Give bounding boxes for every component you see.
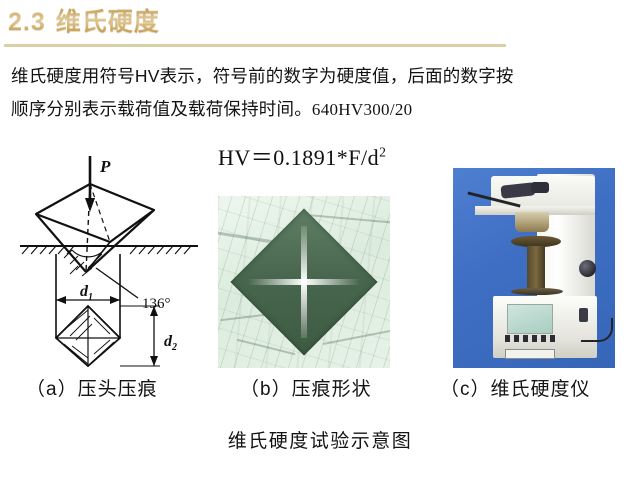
title-label: 维氏硬度 bbox=[56, 8, 160, 36]
body-line-1: 维氏硬度用符号HV表示，符号前的数字为硬度值，后面的数字按 bbox=[11, 60, 631, 93]
figure-a-caption: （a）压头压痕 bbox=[26, 377, 158, 403]
figure-a-indenter-diagram: P 136° d1 d2 bbox=[14, 150, 204, 372]
tester-elevating-post bbox=[527, 246, 545, 292]
label-d2: d2 bbox=[164, 333, 177, 353]
label-angle-136: 136° bbox=[142, 296, 171, 312]
title-number: 2.3 bbox=[8, 8, 46, 36]
figure-c-hardness-tester-photo bbox=[453, 168, 615, 368]
tester-turret bbox=[515, 212, 549, 232]
pyramid-hidden-edge bbox=[90, 184, 110, 242]
load-arrow-head bbox=[85, 198, 95, 212]
tester-keypad bbox=[505, 335, 555, 342]
figure-title: 维氏硬度试验示意图 bbox=[0, 428, 640, 455]
label-load-P: P bbox=[99, 157, 111, 176]
figure-b-caption: （b）压痕形状 bbox=[240, 377, 372, 403]
tester-display-screen bbox=[507, 304, 553, 334]
body-line-2: 顺序分别表示载荷值及载荷保持时间。640HV300/20 bbox=[11, 93, 631, 126]
tester-eyepiece-secondary bbox=[531, 182, 549, 193]
indent-diagonal-horizontal bbox=[248, 279, 360, 285]
body-paragraph: 维氏硬度用符号HV表示，符号前的数字为硬度值，后面的数字按 顺序分别表示载荷值及… bbox=[11, 60, 631, 126]
d2-dimension bbox=[120, 306, 160, 366]
figure-b-indent-micrograph bbox=[218, 196, 390, 368]
tester-printer-slot bbox=[505, 349, 555, 359]
pyramid-axis-dashed bbox=[86, 184, 90, 272]
tester-adjustment-knob bbox=[579, 260, 596, 277]
title-divider bbox=[4, 44, 506, 47]
tester-base-plate bbox=[511, 288, 563, 295]
figure-c-caption: （c）维氏硬度仪 bbox=[440, 377, 591, 403]
impression-hatching bbox=[64, 310, 114, 364]
page-title: 2.3维氏硬度 bbox=[8, 6, 160, 38]
hardness-designation-value: 640HV300/20 bbox=[312, 100, 413, 119]
body-line-2-prefix: 顺序分别表示载荷值及载荷保持时间。 bbox=[11, 99, 312, 119]
angle-leader-line bbox=[96, 268, 138, 298]
tester-cable bbox=[581, 318, 613, 342]
indenter-svg: P 136° d1 d2 bbox=[14, 150, 204, 372]
figure-row: P 136° d1 d2 bbox=[0, 150, 640, 375]
